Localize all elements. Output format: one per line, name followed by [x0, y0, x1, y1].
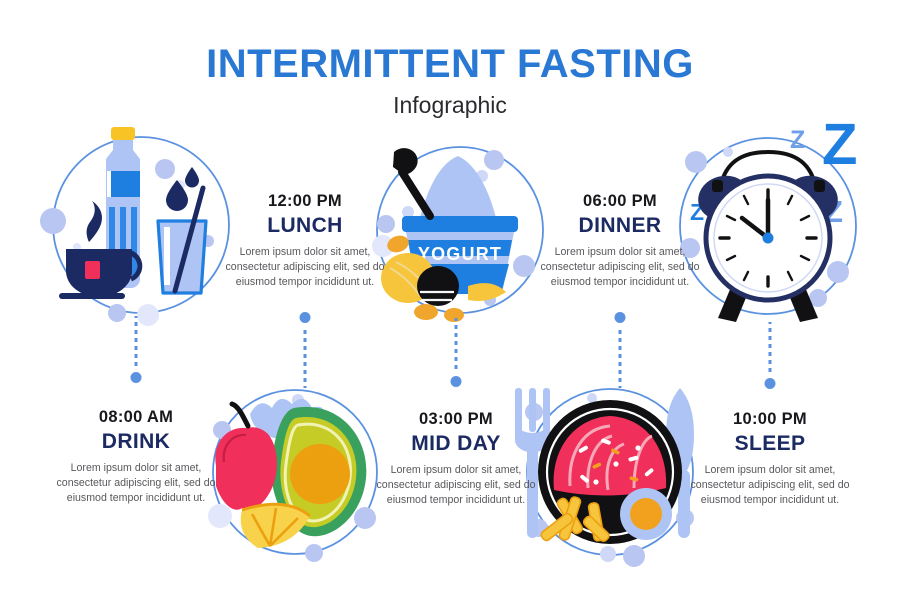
connector-line — [304, 328, 307, 388]
step-body-midday: Lorem ipsum dolor sit amet, consectetur … — [367, 463, 545, 508]
illustration-midday — [202, 378, 388, 562]
step-time-dinner: 06:00 PM — [531, 192, 709, 210]
step-block-drink[interactable]: 08:00 AM DRINK Lorem ipsum dolor sit ame… — [47, 408, 225, 506]
step-label-sleep: SLEEP — [681, 432, 859, 456]
connector-line — [135, 316, 138, 368]
salmon-plate-icon — [538, 400, 682, 544]
yogurt-cup-label: YOGURT — [418, 244, 502, 264]
step-time-lunch: 12:00 PM — [216, 192, 394, 210]
connector-line — [769, 322, 772, 374]
connector-line — [455, 318, 458, 372]
step-body-sleep: Lorem ipsum dolor sit amet, consectetur … — [681, 463, 859, 508]
step-body-dinner: Lorem ipsum dolor sit amet, consectetur … — [531, 245, 709, 290]
illustration-lunch: YOGURT — [372, 140, 548, 320]
step-block-midday[interactable]: 03:00 PM MID DAY Lorem ipsum dolor sit a… — [367, 410, 545, 508]
connector-dot — [300, 312, 311, 323]
step-label-lunch: LUNCH — [216, 214, 394, 238]
step-time-drink: 08:00 AM — [47, 408, 225, 426]
step-block-lunch[interactable]: 12:00 PM LUNCH Lorem ipsum dolor sit ame… — [216, 192, 394, 290]
connector-drink — [129, 316, 143, 388]
sleep-z-large-icon: Z — [822, 112, 857, 177]
connector-midday — [449, 318, 463, 392]
connector-line — [619, 328, 622, 388]
connector-dinner — [613, 312, 627, 390]
step-time-midday: 03:00 PM — [367, 410, 545, 428]
illustration-drink — [45, 125, 237, 321]
sleep-z-medium-icon: Z — [790, 126, 805, 154]
step-time-sleep: 10:00 PM — [681, 410, 859, 428]
page-title: INTERMITTENT FASTING — [0, 44, 900, 84]
header: INTERMITTENT FASTING Infographic — [0, 44, 900, 117]
connector-dot — [615, 312, 626, 323]
step-label-midday: MID DAY — [367, 432, 545, 456]
connector-dot — [131, 372, 142, 383]
infographic-canvas: INTERMITTENT FASTING Infographic — [0, 0, 900, 600]
step-body-lunch: Lorem ipsum dolor sit amet, consectetur … — [216, 245, 394, 290]
step-label-drink: DRINK — [47, 430, 225, 454]
connector-lunch — [298, 312, 312, 390]
connector-dot — [451, 376, 462, 387]
fried-egg-icon — [620, 488, 672, 540]
step-body-drink: Lorem ipsum dolor sit amet, consectetur … — [47, 461, 225, 506]
step-block-sleep[interactable]: 10:00 PM SLEEP Lorem ipsum dolor sit ame… — [681, 410, 859, 508]
page-subtitle: Infographic — [0, 94, 900, 117]
connector-sleep — [763, 322, 777, 394]
step-block-dinner[interactable]: 06:00 PM DINNER Lorem ipsum dolor sit am… — [531, 192, 709, 290]
connector-dot — [765, 378, 776, 389]
step-label-dinner: DINNER — [531, 214, 709, 238]
